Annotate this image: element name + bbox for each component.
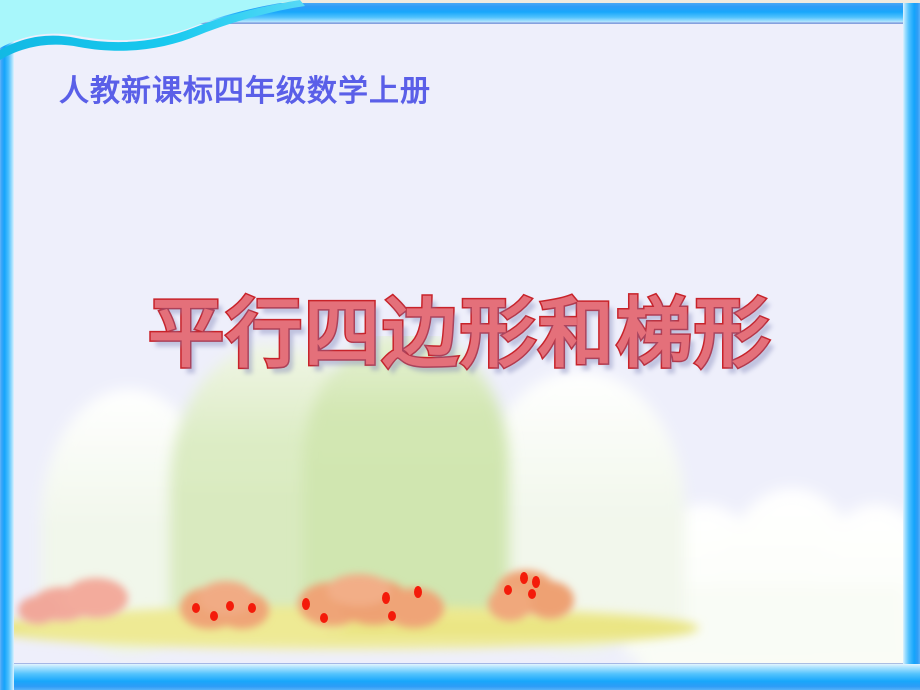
border-left [0, 0, 14, 690]
corner-wave-decoration [0, 0, 320, 70]
border-right [903, 3, 920, 690]
border-bottom [0, 664, 920, 690]
frame-hairline [13, 23, 904, 664]
corner-wave-svg [0, 0, 320, 70]
slide-root: 人教新课标四年级数学上册 平行四边形和梯形 [0, 0, 920, 690]
